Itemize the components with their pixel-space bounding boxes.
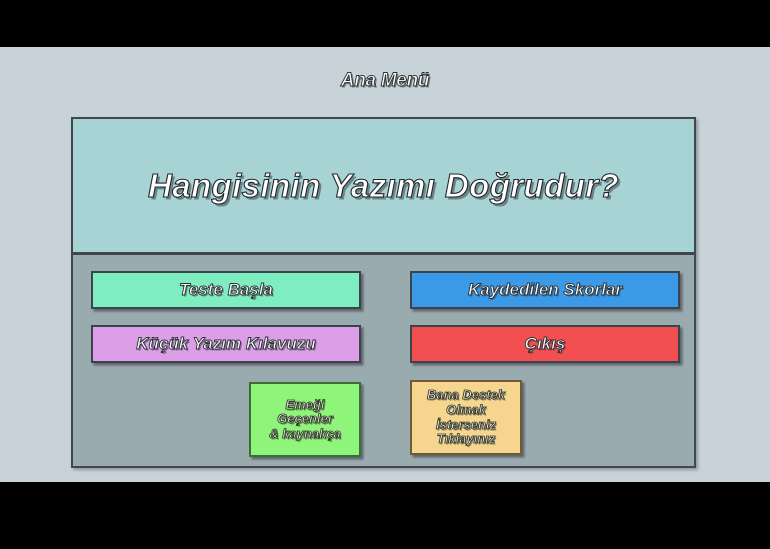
start-test-button[interactable]: Teste Başla	[91, 271, 361, 309]
letterbox-bottom	[0, 482, 770, 549]
support-line-2: Olmak İsterseniz	[417, 403, 515, 432]
main-frame: Hangisinin Yazımı Doğrudur? Teste Başla …	[71, 117, 696, 468]
support-button[interactable]: Bana Destek Olmak İsterseniz Tıklayınız	[410, 380, 522, 455]
video-screen: Ana Menü Hangisinin Yazımı Doğrudur? Tes…	[0, 0, 770, 549]
support-line-1: Bana Destek	[417, 388, 515, 403]
credits-line-1: Emeği Geçenler	[256, 398, 354, 427]
credits-button[interactable]: Emeği Geçenler & kaynakça	[249, 382, 361, 457]
saved-scores-button[interactable]: Kaydedilen Skorlar	[410, 271, 680, 309]
question-text: Hangisinin Yazımı Doğrudur?	[148, 167, 619, 205]
credits-line-2: & kaynakça	[256, 427, 354, 442]
menu-buttons-panel: Teste Başla Küçük Yazım Kılavuzu Kaydedi…	[73, 258, 694, 466]
support-line-3: Tıklayınız	[417, 432, 515, 447]
question-panel: Hangisinin Yazımı Doğrudur?	[73, 119, 694, 255]
app-canvas: Ana Menü Hangisinin Yazımı Doğrudur? Tes…	[0, 47, 770, 482]
spelling-guide-button[interactable]: Küçük Yazım Kılavuzu	[91, 325, 361, 363]
page-title: Ana Menü	[0, 70, 770, 92]
exit-button[interactable]: Çıkış	[410, 325, 680, 363]
letterbox-top	[0, 0, 770, 47]
